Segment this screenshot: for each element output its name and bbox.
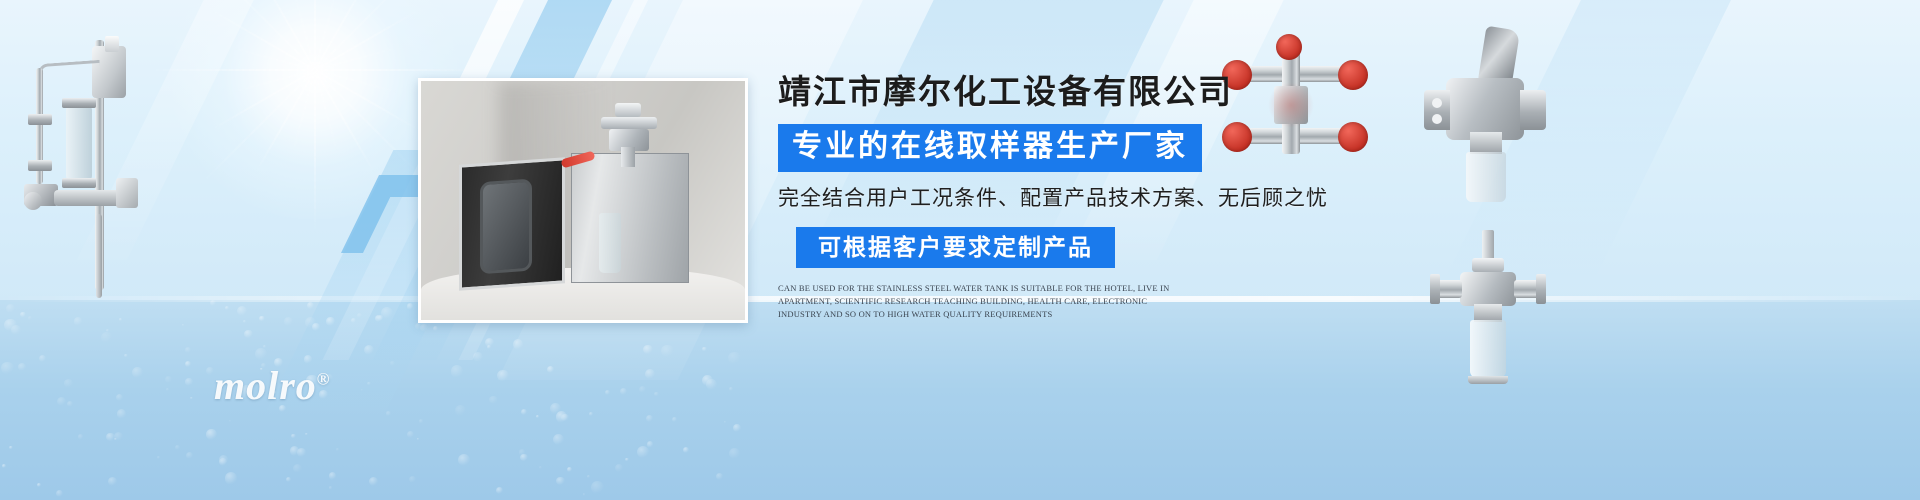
banner-text-block: 靖江市摩尔化工设备有限公司 专业的在线取样器生产厂家 完全结合用户工况条件、配置… (778, 70, 1418, 321)
watermark-logo: molro® (214, 362, 331, 409)
watermark-text: molro (214, 363, 317, 408)
promo-banner: 靖江市摩尔化工设备有限公司 专业的在线取样器生产厂家 完全结合用户工况条件、配置… (0, 0, 1920, 500)
headline-secondary: 可根据客户要求定制产品 (796, 227, 1115, 268)
fineprint-english: CAN BE USED FOR THE STAINLESS STEEL WATE… (778, 282, 1178, 321)
subheadline: 完全结合用户工况条件、配置产品技术方案、无后顾之忧 (778, 184, 1418, 214)
valve-assembly (597, 103, 663, 159)
company-name: 靖江市摩尔化工设备有限公司 (778, 70, 1418, 116)
product-photo-sampling-cabinet (418, 78, 748, 323)
product-image-inline-sampler (1430, 230, 1550, 390)
water-droplet-texture (0, 300, 760, 500)
product-image-lever-valve (1420, 28, 1550, 208)
registered-mark-icon: ® (317, 370, 331, 389)
headline-primary: 专业的在线取样器生产厂家 (778, 124, 1202, 172)
product-image-sampler-stand (10, 18, 180, 298)
